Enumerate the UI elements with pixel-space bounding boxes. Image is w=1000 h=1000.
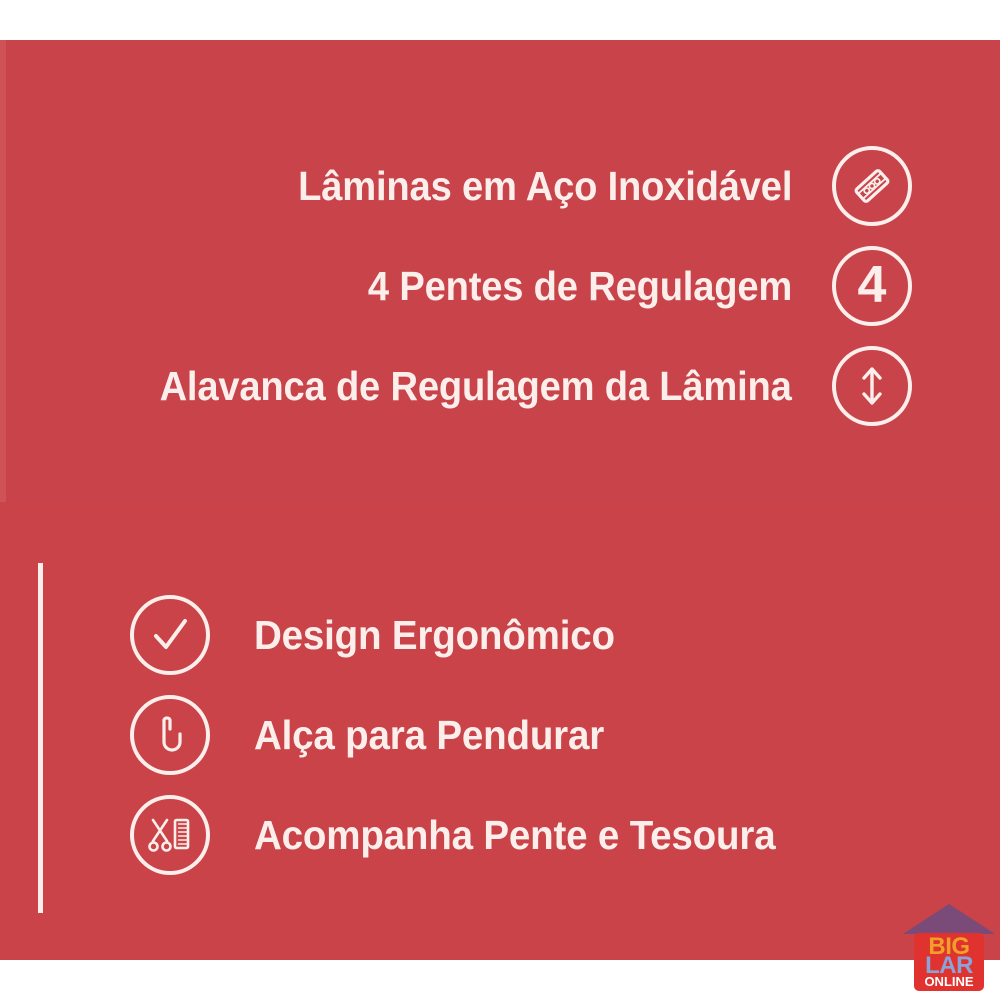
top-feature-label-blades: Lâminas em Aço Inoxidável	[298, 166, 792, 207]
top-feature-row-lever: Alavanca de Regulagem da Lâmina	[112, 336, 912, 436]
house-body-icon: BIG LAR ONLINE	[914, 933, 984, 991]
bottom-feature-row-ergonomic: Design Ergonômico	[130, 590, 638, 680]
bottom-feature-label-accessories: Acompanha Pente e Tesoura	[254, 815, 775, 856]
top-feature-label-lever: Alavanca de Regulagem da Lâmina	[160, 366, 792, 407]
bottom-feature-label-hook: Alça para Pendurar	[254, 715, 604, 756]
number-four-icon: 4	[832, 246, 912, 326]
big-lar-online-logo[interactable]: BIG LAR ONLINE	[903, 902, 995, 994]
top-feature-row-combs: 4 Pentes de Regulagem 4	[336, 236, 912, 336]
top-feature-list: Lâminas em Aço Inoxidável 4 Pentes de Re…	[0, 40, 1000, 502]
hook-icon	[130, 695, 210, 775]
scissors-comb-icon	[130, 795, 210, 875]
left-accent-bar	[38, 563, 43, 913]
top-feature-row-blades: Lâminas em Aço Inoxidável	[261, 136, 912, 236]
house-roof-icon	[903, 904, 995, 934]
bottom-feature-label-ergonomic: Design Ergonômico	[254, 615, 615, 656]
razor-blade-icon	[832, 146, 912, 226]
vertical-double-arrow-icon	[832, 346, 912, 426]
logo-text-online: ONLINE	[914, 975, 984, 988]
bottom-feature-row-hook: Alça para Pendurar	[130, 690, 626, 780]
number-four-glyph: 4	[858, 259, 887, 311]
top-feature-label-combs: 4 Pentes de Regulagem	[368, 266, 792, 307]
bottom-feature-row-accessories: Acompanha Pente e Tesoura	[130, 790, 809, 880]
checkmark-icon	[130, 595, 210, 675]
product-feature-banner: Lâminas em Aço Inoxidável 4 Pentes de Re…	[0, 0, 1000, 1000]
